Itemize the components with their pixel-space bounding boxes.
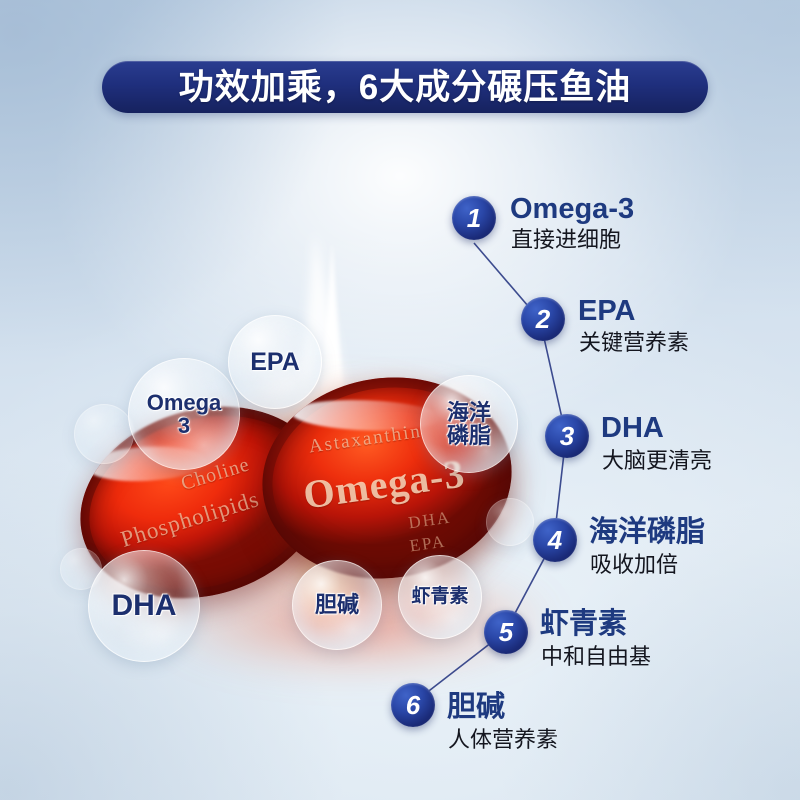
bubble-label: DHA: [112, 590, 177, 622]
benefit-number-badge-2: 2: [521, 297, 565, 341]
bubble-label: 海洋 磷脂: [447, 401, 491, 447]
ingredient-bubble-omega3: Omega 3: [128, 358, 240, 470]
title-banner: 功效加乘，6大成分碾压鱼油: [102, 61, 708, 113]
benefit-subtitle-3: 大脑更清亮: [602, 450, 712, 472]
product-poster: 功效加乘，6大成分碾压鱼油 Choline Phospholipids Asta…: [0, 0, 800, 800]
benefit-number: 4: [548, 527, 562, 553]
ingredient-bubble-marine-phospholipid: 海洋 磷脂: [420, 375, 518, 473]
benefit-number-badge-5: 5: [484, 610, 528, 654]
decorative-bubble: [486, 498, 534, 546]
benefit-number-badge-1: 1: [452, 196, 496, 240]
benefit-heading-6: 胆碱: [447, 693, 505, 722]
benefit-heading-5: 虾青素: [540, 610, 627, 639]
bubble-label: EPA: [250, 349, 300, 375]
benefit-number: 6: [406, 692, 420, 718]
page-title: 功效加乘，6大成分碾压鱼油: [179, 70, 631, 105]
benefit-subtitle-2: 关键营养素: [579, 332, 689, 354]
bubble-label: Omega 3: [147, 391, 222, 437]
benefit-heading-3: DHA: [601, 414, 664, 443]
bubble-label: 虾青素: [411, 587, 468, 607]
decorative-bubble: [74, 404, 134, 464]
ingredient-bubble-epa: EPA: [228, 315, 322, 409]
benefit-number: 1: [467, 205, 481, 231]
benefit-number: 3: [560, 423, 574, 449]
benefit-subtitle-1: 直接进细胞: [511, 229, 621, 251]
benefit-number: 2: [536, 306, 550, 332]
benefit-heading-1: Omega-3: [510, 195, 634, 224]
benefit-number: 5: [499, 619, 513, 645]
benefit-number-badge-3: 3: [545, 414, 589, 458]
benefit-heading-4: 海洋磷脂: [589, 518, 705, 547]
bubble-label: 胆碱: [315, 593, 359, 616]
benefit-subtitle-4: 吸收加倍: [590, 554, 678, 576]
benefit-subtitle-5: 中和自由基: [541, 646, 651, 668]
benefit-number-badge-4: 4: [533, 518, 577, 562]
ingredient-bubble-choline: 胆碱: [292, 560, 382, 650]
ingredient-bubble-dha: DHA: [88, 550, 200, 662]
benefit-number-badge-6: 6: [391, 683, 435, 727]
ingredient-bubble-astaxanthin: 虾青素: [398, 555, 482, 639]
benefit-subtitle-6: 人体营养素: [448, 729, 558, 751]
benefit-heading-2: EPA: [578, 297, 635, 326]
